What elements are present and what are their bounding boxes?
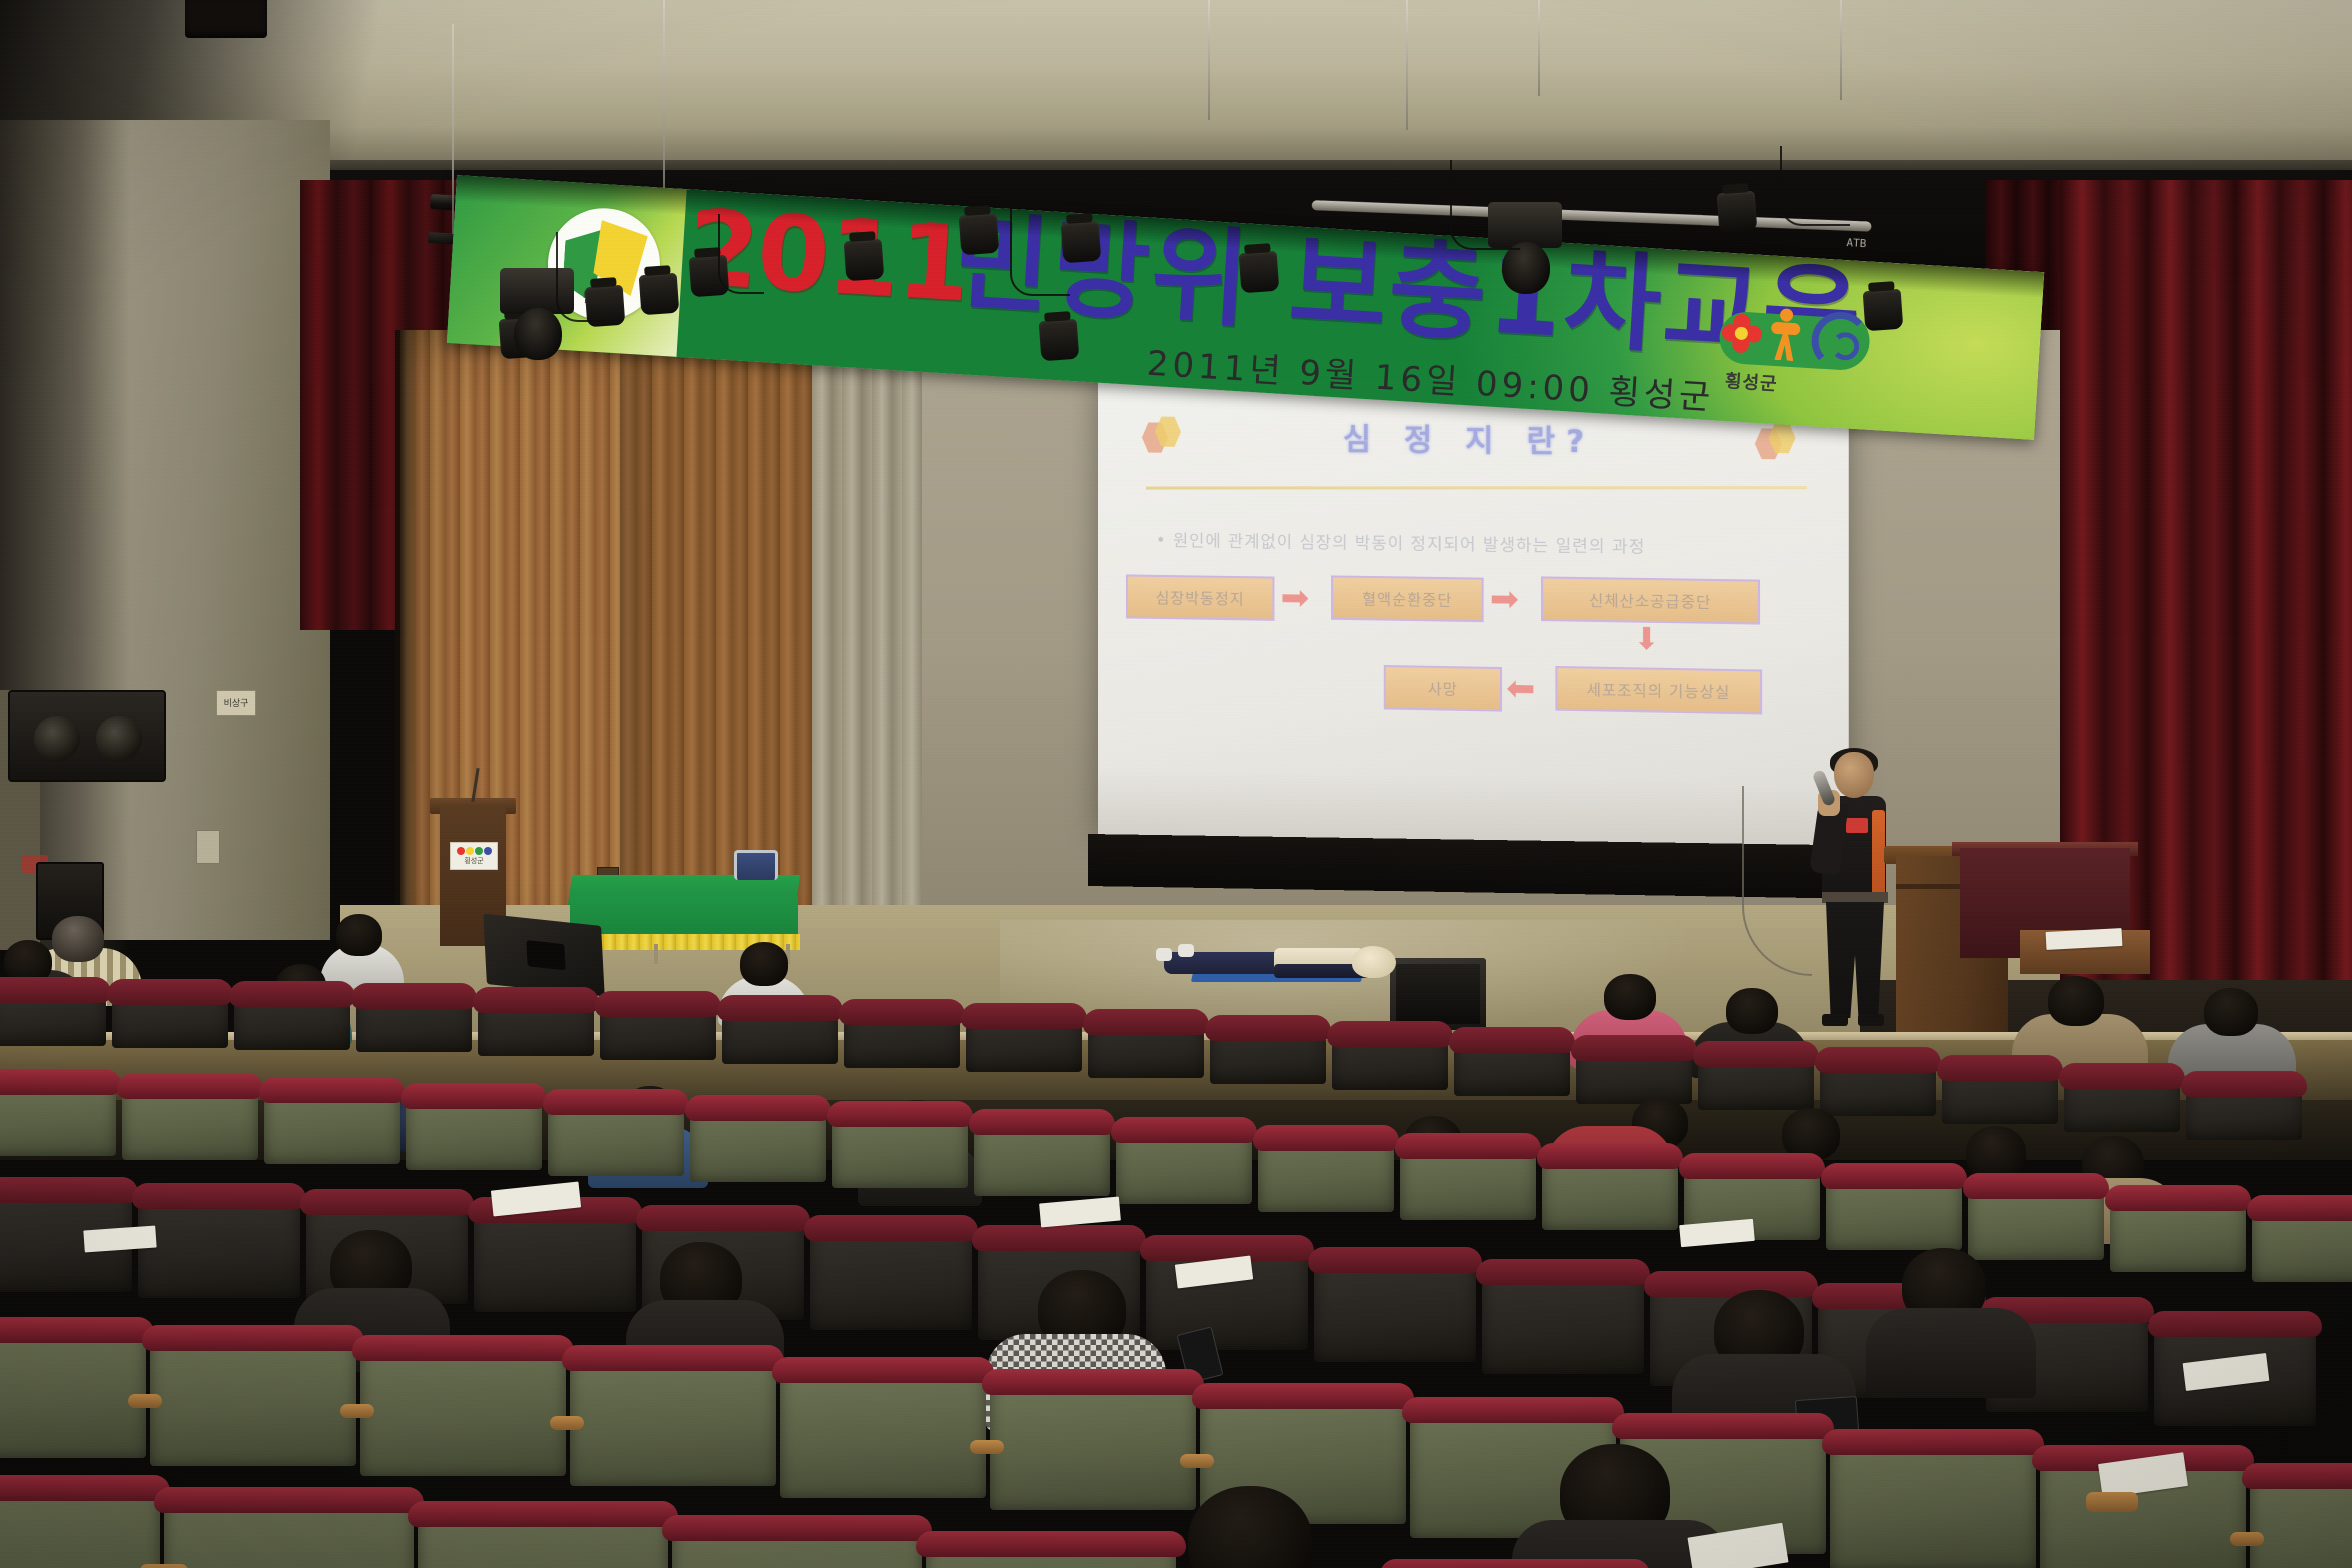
slide-arrow-right-icon: ➡ [1490,582,1519,617]
seat[interactable] [1942,1066,2058,1124]
slide-arrow-down-icon: ⬇ [1634,625,1660,656]
slide-surface: 심 정 지 란? • 원인에 관계없이 심장의 박동이 정지되어 발생하는 일련… [1098,378,1849,855]
stage-light-icon [1717,191,1758,234]
rigging-wire [1840,0,1842,100]
seat[interactable] [0,1486,160,1568]
person-icon [1766,308,1804,370]
slide-divider [1146,486,1807,489]
audience-head [1726,988,1778,1034]
handout-paper[interactable] [2046,928,2123,950]
seat-armrest [2086,1492,2138,1512]
seat[interactable] [672,1526,922,1568]
lamp-cable [1450,160,1520,250]
seat-armrest [340,1404,374,1418]
ceiling-vent [185,0,267,38]
rigging-wire [663,0,665,198]
seat[interactable] [1400,1144,1536,1220]
seat[interactable] [2064,1074,2180,1132]
wall-speaker [8,690,166,782]
rigging-wire [1406,0,1408,130]
truss-rail-label: ATB [1846,236,1867,250]
seat[interactable] [1482,1270,1644,1374]
rigging-wire [1208,0,1210,120]
seat[interactable] [478,998,594,1056]
auditorium-photo: 비상구 심 정 지 란? • 원인에 관계없이 심장의 박동이 정지되어 발생하… [0,0,2352,1568]
seat[interactable] [780,1368,986,1498]
flower-icon [1721,313,1763,355]
seat-armrest [1180,1454,1214,1468]
podium-left-emblem: 횡성군 [450,842,498,870]
seat[interactable] [990,1380,1196,1510]
presenter-belt [1822,892,1888,903]
slide-flow-box: 사망 [1384,665,1502,712]
seat[interactable] [356,994,472,1052]
stage-light-icon [1863,289,1904,332]
stage-chair [728,850,784,898]
seat[interactable] [570,1356,776,1486]
seat[interactable] [1454,1038,1570,1096]
slide-flow-box: 세포조직의 기능상실 [1555,666,1762,715]
seat[interactable] [0,1080,116,1156]
seat[interactable] [2110,1196,2246,1272]
seat[interactable] [1576,1046,1692,1104]
seat[interactable] [690,1106,826,1182]
slide-arrow-left-icon: ⬅ [1506,671,1535,706]
rigging-wire [1538,0,1540,96]
speaker-cone-icon [34,716,80,762]
slide-flow-box: 혈액순환중단 [1331,575,1484,622]
seat[interactable] [810,1226,972,1330]
seat[interactable] [164,1498,414,1568]
seat[interactable] [0,1328,146,1458]
seat[interactable] [112,990,228,1048]
seat-armrest [128,1394,162,1408]
presenter-badge [1846,818,1868,833]
audience-member [1866,1308,2036,1398]
county-logo-label: 횡성군 [1724,367,1778,396]
presenter-head [1834,752,1874,798]
seat[interactable] [1258,1136,1394,1212]
podium-left-emblem-label: 횡성군 [451,856,497,866]
seat[interactable] [2250,1474,2352,1568]
seat[interactable] [1542,1154,1678,1230]
seat[interactable] [844,1010,960,1068]
seat[interactable] [1830,1440,2036,1568]
slide-flow-box: 신체산소공급중단 [1541,576,1760,624]
seat[interactable] [264,1088,400,1164]
seat-armrest [140,1564,188,1568]
seat[interactable] [548,1100,684,1176]
audience-head [336,914,382,956]
seat[interactable] [966,1014,1082,1072]
seat[interactable] [234,992,350,1050]
seat[interactable] [832,1112,968,1188]
audience-head [1604,974,1656,1020]
seat-armrest [970,1440,1004,1454]
handout-paper[interactable] [1039,1197,1121,1228]
seat[interactable] [474,1208,636,1312]
stage-light-icon [639,273,680,316]
seat[interactable] [1210,1026,1326,1084]
seat[interactable] [2186,1082,2302,1140]
seat[interactable] [1088,1020,1204,1078]
slide-flow-box: 심장박동정지 [1126,574,1275,620]
speaker-cone-icon [96,716,142,762]
seat[interactable] [926,1542,1176,1568]
audience-head [1966,1126,2026,1180]
wood-panel-shadow [395,330,417,950]
lamp-cable [1010,196,1070,296]
stage-light-icon [1039,319,1080,362]
audience-seating [0,930,2352,1568]
lamp-cable [556,232,606,322]
lamp-cable [1780,146,1850,226]
audience-head [740,942,788,986]
stage-light-icon [1239,251,1280,294]
seat-armrest [2230,1532,2264,1546]
audience-head [2048,976,2104,1026]
lamp-cable [718,214,764,294]
seat[interactable] [2252,1206,2352,1282]
side-drape [812,340,922,940]
seat[interactable] [974,1120,1110,1196]
wall-sign-exit: 비상구 [216,690,256,716]
seat[interactable] [0,988,106,1046]
seat[interactable] [1314,1258,1476,1362]
seat[interactable] [122,1084,258,1160]
wall-sign-plate [196,830,220,864]
stage-light-icon [959,213,1000,256]
seat-armrest [550,1416,584,1430]
microphone-icon [1812,769,1837,807]
slide-arrow-right-icon: ➡ [1281,581,1310,616]
seat[interactable] [406,1094,542,1170]
stage-light-icon [844,239,885,282]
seat[interactable] [722,1006,838,1064]
seat[interactable] [600,1002,716,1060]
rigging-wire [452,24,454,234]
seat[interactable] [150,1336,356,1466]
audience-head [52,916,104,962]
seat[interactable] [1116,1128,1252,1204]
seat[interactable] [1826,1174,1962,1250]
audience-head [2204,988,2258,1036]
projection-screen: 심 정 지 란? • 원인에 관계없이 심장의 박동이 정지되어 발생하는 일련… [1098,378,1849,855]
seat[interactable] [360,1346,566,1476]
county-logo-icon: 횡성군 [1703,288,1874,390]
seat[interactable] [1820,1058,1936,1116]
seat[interactable] [1968,1184,2104,1260]
seat[interactable] [1332,1032,1448,1090]
seat[interactable] [1698,1052,1814,1110]
seat[interactable] [138,1194,300,1298]
slide-bullet-text: • 원인에 관계없이 심장의 박동이 정지되어 발생하는 일련의 과정 [1156,527,1820,560]
seat[interactable] [418,1512,668,1568]
